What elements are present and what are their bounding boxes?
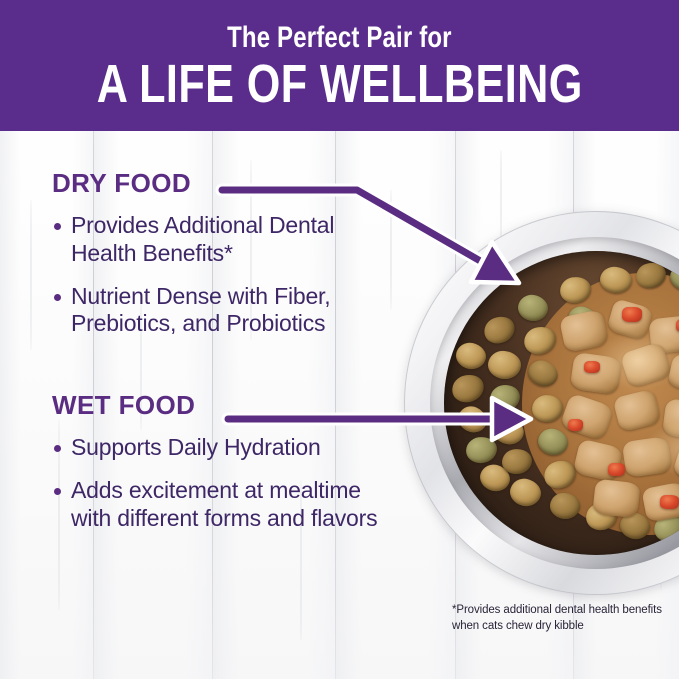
- dry-food-bullet-list: Provides Additional Dental Health Benefi…: [52, 212, 402, 338]
- header-subtitle: The Perfect Pair for: [227, 22, 452, 54]
- header-title: A LIFE OF WELLBEING: [97, 56, 583, 113]
- bullet-dot-icon: [54, 294, 61, 301]
- dry-food-heading: DRY FOOD: [52, 170, 402, 196]
- bullet-text: Supports Daily Hydration: [71, 434, 321, 460]
- bullet-text: Provides Additional Dental Health Benefi…: [71, 212, 334, 266]
- bullet-text: Nutrient Dense with Fiber, Prebiotics, a…: [71, 283, 330, 337]
- bullet-dot-icon: [54, 445, 61, 452]
- footnote-text: *Provides additional dental health benef…: [452, 603, 667, 634]
- bullet-dot-icon: [54, 223, 61, 230]
- bullet-text: Adds excitement at mealtime with differe…: [71, 477, 377, 531]
- header-banner: The Perfect Pair for A LIFE OF WELLBEING: [0, 0, 679, 131]
- infographic-canvas: The Perfect Pair for A LIFE OF WELLBEING: [0, 0, 679, 679]
- list-item: Nutrient Dense with Fiber, Prebiotics, a…: [52, 283, 402, 339]
- list-item: Supports Daily Hydration: [52, 434, 402, 462]
- list-item: Provides Additional Dental Health Benefi…: [52, 212, 402, 268]
- benefits-text-column: DRY FOOD Provides Additional Dental Heal…: [52, 170, 402, 533]
- cat-food-bowl-photo: [404, 211, 679, 595]
- wet-food-heading: WET FOOD: [52, 392, 402, 418]
- list-item: Adds excitement at mealtime with differe…: [52, 477, 402, 533]
- bullet-dot-icon: [54, 488, 61, 495]
- wet-food-bullet-list: Supports Daily Hydration Adds excitement…: [52, 434, 402, 532]
